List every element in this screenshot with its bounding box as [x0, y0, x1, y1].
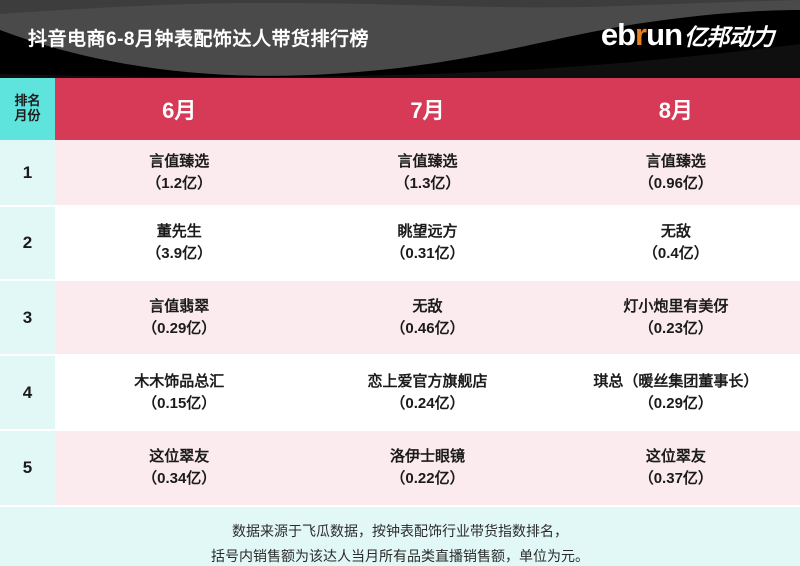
table-cell: 恋上爱官方旗舰店 （0.24亿）	[303, 355, 551, 430]
sales-value: （0.4亿）	[552, 243, 800, 265]
sales-value: （0.46亿）	[303, 318, 551, 340]
table-cell: 无敌 （0.4亿）	[552, 206, 800, 280]
table-cell: 眺望远方 （0.31亿）	[303, 206, 551, 280]
sales-value: （0.37亿）	[552, 468, 800, 490]
month-header-july: 7月	[303, 78, 551, 140]
influencer-name: 恋上爱官方旗舰店	[303, 371, 551, 393]
sales-value: （0.31亿）	[303, 243, 551, 265]
logo-chinese-name: 亿邦动力	[684, 26, 774, 49]
sales-value: （1.2亿）	[55, 173, 303, 195]
logo-letter-r: r	[635, 19, 646, 50]
table-cell: 洛伊士眼镜 （0.22亿）	[303, 430, 551, 506]
ebrun-logo: e b r u n 亿邦动力	[601, 19, 774, 50]
influencer-name: 这位翠友	[552, 446, 800, 468]
sales-value: （0.29亿）	[552, 393, 800, 415]
influencer-name: 言值臻选	[55, 151, 303, 173]
footnote-line-1: 数据来源于飞瓜数据，按钟表配饰行业带货指数排名，	[0, 519, 800, 544]
banner: 抖音电商6-8月钟表配饰达人带货排行榜 e b r u n 亿邦动力	[0, 0, 800, 78]
table-cell: 琪总（暖丝集团董事长） （0.29亿）	[552, 355, 800, 430]
sales-value: （0.29亿）	[55, 318, 303, 340]
rank-value: 3	[0, 280, 55, 355]
sales-value: （0.23亿）	[552, 318, 800, 340]
rank-value: 4	[0, 355, 55, 430]
influencer-name: 眺望远方	[303, 221, 551, 243]
rank-header-line1: 排名	[0, 94, 55, 109]
influencer-name: 无敌	[552, 221, 800, 243]
rank-value: 1	[0, 140, 55, 206]
footnote-line-2: 括号内销售额为该达人当月所有品类直播销售额，单位为元。	[0, 544, 800, 566]
rank-header-line2: 月份	[0, 109, 55, 124]
month-header-june: 6月	[55, 78, 303, 140]
sales-value: （0.22亿）	[303, 468, 551, 490]
table-cell: 言值臻选 （1.2亿）	[55, 140, 303, 206]
rank-value: 5	[0, 430, 55, 506]
sales-value: （0.96亿）	[552, 173, 800, 195]
table-header-row: 排名 月份 6月 7月 8月	[0, 78, 800, 140]
rank-value: 2	[0, 206, 55, 280]
table-row: 3 言值翡翠 （0.29亿） 无敌 （0.46亿） 灯小炮里有美伢 （0.23亿…	[0, 280, 800, 355]
table-row: 2 董先生 （3.9亿） 眺望远方 （0.31亿） 无敌 （0.4亿）	[0, 206, 800, 280]
logo-letter-e: e	[601, 19, 617, 50]
table-cell: 这位翠友 （0.34亿）	[55, 430, 303, 506]
footnote: 数据来源于飞瓜数据，按钟表配饰行业带货指数排名， 括号内销售额为该达人当月所有品…	[0, 507, 800, 566]
logo-letter-b: b	[617, 19, 635, 50]
influencer-name: 木木饰品总汇	[55, 371, 303, 393]
influencer-name: 言值臻选	[303, 151, 551, 173]
table-cell: 无敌 （0.46亿）	[303, 280, 551, 355]
influencer-name: 无敌	[303, 296, 551, 318]
sales-value: （3.9亿）	[55, 243, 303, 265]
table-cell: 言值臻选 （0.96亿）	[552, 140, 800, 206]
sales-value: （0.24亿）	[303, 393, 551, 415]
influencer-name: 灯小炮里有美伢	[552, 296, 800, 318]
influencer-name: 言值臻选	[552, 151, 800, 173]
table-row: 1 言值臻选 （1.2亿） 言值臻选 （1.3亿） 言值臻选 （0.96亿）	[0, 140, 800, 206]
logo-letter-u: u	[646, 19, 664, 50]
influencer-name: 琪总（暖丝集团董事长）	[552, 371, 800, 393]
table-cell: 这位翠友 （0.37亿）	[552, 430, 800, 506]
ranking-infographic: 抖音电商6-8月钟表配饰达人带货排行榜 e b r u n 亿邦动力 排名 月份…	[0, 0, 800, 566]
logo-letter-n: n	[664, 19, 682, 50]
rank-month-header: 排名 月份	[0, 78, 55, 140]
influencer-name: 洛伊士眼镜	[303, 446, 551, 468]
ranking-table: 排名 月份 6月 7月 8月 1 言值臻选 （1.2亿） 言值臻选 （1.3亿）	[0, 78, 800, 507]
influencer-name: 董先生	[55, 221, 303, 243]
table-cell: 董先生 （3.9亿）	[55, 206, 303, 280]
table-cell: 言值臻选 （1.3亿）	[303, 140, 551, 206]
month-header-august: 8月	[552, 78, 800, 140]
sales-value: （0.15亿）	[55, 393, 303, 415]
influencer-name: 言值翡翠	[55, 296, 303, 318]
table-cell: 言值翡翠 （0.29亿）	[55, 280, 303, 355]
influencer-name: 这位翠友	[55, 446, 303, 468]
table-cell: 木木饰品总汇 （0.15亿）	[55, 355, 303, 430]
table-cell: 灯小炮里有美伢 （0.23亿）	[552, 280, 800, 355]
sales-value: （0.34亿）	[55, 468, 303, 490]
table-row: 4 木木饰品总汇 （0.15亿） 恋上爱官方旗舰店 （0.24亿） 琪总（暖丝集…	[0, 355, 800, 430]
sales-value: （1.3亿）	[303, 173, 551, 195]
page-title: 抖音电商6-8月钟表配饰达人带货排行榜	[28, 24, 369, 51]
table-row: 5 这位翠友 （0.34亿） 洛伊士眼镜 （0.22亿） 这位翠友 （0.37亿…	[0, 430, 800, 506]
